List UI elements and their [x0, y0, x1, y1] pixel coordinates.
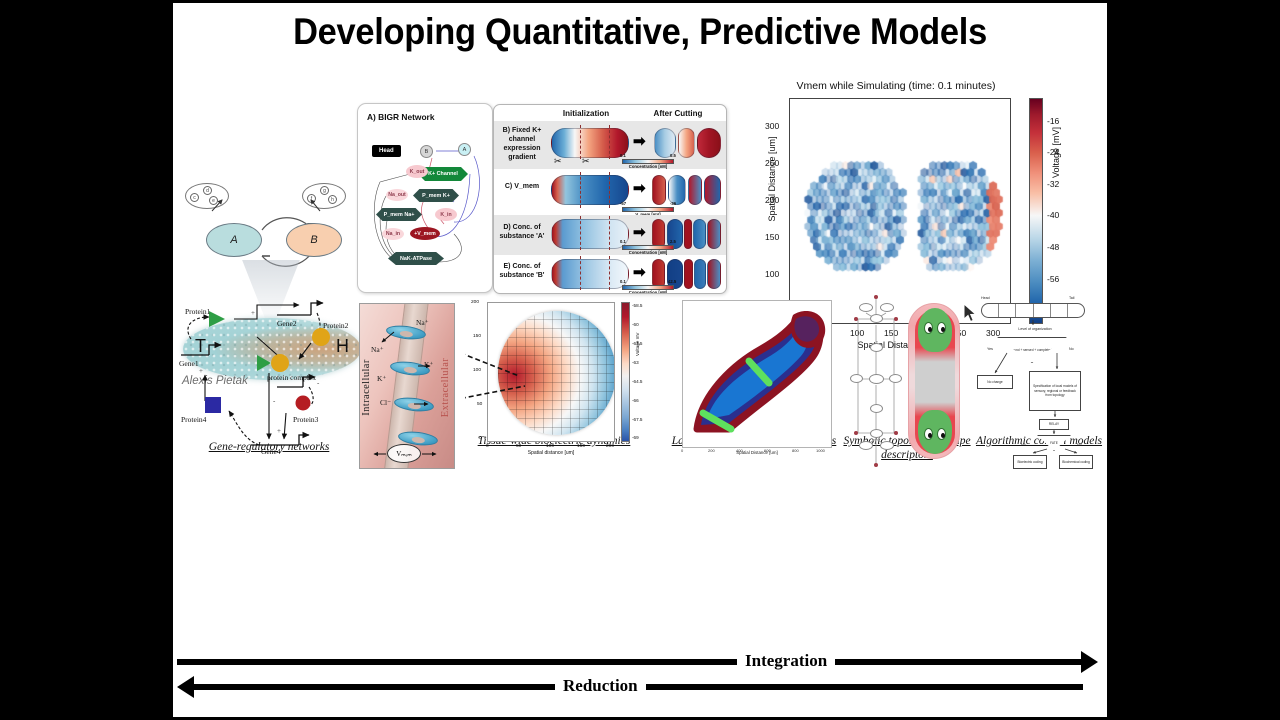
bigr-na-in: Na_in	[382, 228, 404, 240]
algo-decision-2: FATE	[1037, 435, 1071, 451]
worm-cut-d4	[693, 219, 706, 249]
worm-cut-e3	[684, 259, 693, 289]
algo-strip-cell-1	[982, 304, 999, 317]
mouse-cursor	[963, 303, 977, 323]
bigr-k-out: K_out	[406, 165, 428, 178]
algo-output-2: Biochemical coding	[1059, 455, 1093, 469]
colorbar-e-max: 42.5	[668, 279, 676, 284]
tvp-x-150: 150	[577, 444, 585, 449]
algo-worm-strip	[981, 303, 1085, 318]
topo-node-upper-mid	[870, 343, 883, 352]
sim-row-c-label: C) V_mem	[496, 182, 548, 191]
worm-x-axis-label: Spatial Distance [um]	[682, 450, 832, 455]
planaria-eye-top-left	[924, 322, 933, 334]
worm-init-d	[551, 219, 629, 249]
scissors-icon-2: ✂	[582, 157, 590, 166]
cbar-tick-3: -32	[1047, 179, 1059, 189]
transition-arrow-d: ➡	[633, 225, 646, 240]
sim-row-c: C) V_mem ➡ -57 -36 V_mem [mV]	[494, 169, 727, 215]
algo-strip-cell-5	[1051, 304, 1068, 317]
node-b: B	[286, 223, 342, 257]
grn-sign-plus-1: +	[251, 309, 255, 317]
colorbar-c-min: -57	[620, 201, 626, 206]
tvp-cbar-tick-8: -69	[632, 435, 639, 440]
node-a: A	[206, 223, 262, 257]
worm-cut-b3	[697, 128, 721, 158]
tvp-y-50: 50	[477, 402, 482, 407]
tvp-cbar-tick-6: -66	[632, 398, 639, 403]
planaria-eye-top-right	[937, 322, 946, 334]
grn-sign-minus-1: -	[273, 397, 275, 405]
tvp-x-100: 100	[546, 444, 554, 449]
topo-node-top-center	[870, 314, 883, 323]
algo-output-1: Bioelectric coding	[1013, 455, 1047, 469]
cbar-tick-1: -16	[1047, 116, 1059, 126]
algo-strip-cell-2	[999, 304, 1016, 317]
algo-decision-1: Wound + sensed + completed ?	[997, 337, 1067, 363]
voronoi-mesh	[498, 311, 615, 435]
tvp-cbar-tick-4: -63	[632, 360, 639, 365]
grn-sign-minus-2: -	[317, 379, 319, 387]
y-tick-100: 100	[765, 269, 779, 279]
topo-node-lower-mid	[870, 404, 883, 413]
worm-cut-d3	[684, 219, 692, 249]
algo-tail-label: Tail	[1069, 296, 1074, 300]
grn-label-gene2: Gene2	[277, 319, 297, 328]
algo-process-box: Specification of local models of sensory…	[1029, 371, 1081, 411]
tvp-y-150: 150	[473, 334, 481, 339]
tvp-cbar-tick-3: -61.5	[632, 341, 642, 346]
algo-relay-box: RELAY	[1039, 419, 1069, 430]
cbar-tick-2: -24	[1047, 147, 1059, 157]
column-header-after-cutting: After Cutting	[634, 109, 722, 118]
scissors-icon-1: ✂	[554, 157, 562, 166]
colorbar-e-min: 0.1	[620, 279, 626, 284]
tvp-x-0: 0	[486, 444, 489, 449]
cbar-tick-4: -40	[1047, 210, 1059, 220]
reduction-label: Reduction	[555, 676, 646, 696]
integration-reduction-arrows: Integration Reduction	[173, 648, 1107, 708]
grn-label-protein3: Protein3	[293, 415, 318, 424]
integration-arrow-bar	[177, 659, 1087, 665]
planaria-eye-bottom-right	[937, 428, 946, 440]
worm-init-e	[551, 259, 629, 289]
transition-arrow-c: ➡	[633, 181, 646, 196]
algo-head-label: Head	[981, 296, 990, 300]
grn-label-protein-complex: protein complex	[267, 373, 316, 382]
colorbar-c-max: -36	[670, 201, 676, 206]
algo-level-label: Level of organization	[1003, 327, 1067, 331]
worm-cut-e4	[694, 259, 706, 289]
algo-no-label-3: No	[1077, 443, 1082, 447]
worm-init-b	[551, 128, 629, 158]
worm-shape-svg	[683, 301, 832, 448]
algo-strip-cell-6	[1068, 304, 1084, 317]
tvp-y-0: 0	[479, 436, 482, 441]
y-tick-300: 300	[765, 121, 779, 131]
y-tick-150: 150	[765, 232, 779, 242]
tvp-colorbar	[621, 302, 630, 442]
bigr-pmem-na: P_mem Na+	[376, 208, 422, 221]
worm-init-c	[551, 175, 629, 205]
planaria-head-bottom	[918, 410, 952, 454]
worm-cut-c4	[704, 175, 721, 205]
tvp-cbar-tick-1: -58.5	[632, 303, 642, 308]
page-title: Developing Quantitative, Predictive Mode…	[206, 11, 1075, 53]
integration-arrow-head	[1081, 651, 1098, 673]
sim-row-e-label: E) Conc. of substance 'B'	[496, 262, 548, 280]
topo-node-right	[889, 374, 902, 383]
bigr-network-panel: A) BIGR Network	[357, 103, 493, 293]
colorbar-b-max: 0.5	[670, 153, 676, 158]
transition-arrow-e: ➡	[633, 265, 646, 280]
algo-strip-cell-3	[1016, 304, 1033, 317]
tvp-y-100: 100	[473, 368, 481, 373]
tvp-x-axis-label: Spatial distance [um]	[487, 450, 615, 456]
tvp-x-200: 200	[606, 444, 614, 449]
cut-line-8	[609, 256, 610, 290]
grn-label-protein1: Protein1	[185, 307, 210, 316]
algo-no-change-box: No change	[977, 375, 1013, 389]
worm-plot-area	[682, 300, 832, 448]
worm-cut-d5	[707, 219, 721, 249]
worm-cut-b2	[678, 128, 695, 158]
algo-strip-cell-4	[1034, 304, 1051, 317]
cut-line-7	[580, 256, 581, 290]
cut-line-5	[580, 216, 581, 250]
bigr-head-node: Head	[372, 145, 401, 157]
y-axis-label: Spatial Distance [um]	[767, 114, 777, 244]
grn-label-protein2: Protein2	[323, 321, 348, 330]
colorbar-d-max: 2.5	[670, 239, 676, 244]
bigr-vmem: +V_mem	[410, 227, 440, 240]
shape-descriptor-panel	[848, 293, 963, 469]
grn-panel: Protein1 Gene2 Protein2 protein complex …	[181, 293, 356, 465]
algo-no-label-2: No	[1021, 443, 1026, 447]
topo-node-bottom-right	[880, 441, 894, 450]
control-model-panel: Head Tail Level of organization Wound + …	[973, 291, 1095, 471]
cut-line-1	[580, 125, 581, 159]
tvp-cbar-tick-5: -64.5	[632, 379, 642, 384]
topo-node-bottom-center	[870, 429, 883, 438]
bigr-na-out: Na_out	[386, 189, 408, 201]
topo-node-top-right	[880, 303, 894, 312]
cut-line-4	[609, 172, 610, 208]
bigr-k-in: K_in	[435, 208, 457, 221]
cut-line-2	[609, 125, 610, 159]
planaria-eye-bottom-left	[924, 428, 933, 440]
column-header-initialization: Initialization	[546, 109, 626, 118]
slide-stage: Developing Quantitative, Predictive Mode…	[0, 0, 1280, 720]
anatomical-prepattern-panel: 0 200 400 600 800 1000 Spatial Distance …	[678, 298, 838, 470]
sim-row-d: D) Conc. of substance 'A' ➡ 0.1 2.5 Conc…	[494, 215, 727, 255]
cell-membrane-panel: Na⁺ Na⁺ K⁺ K⁺ Cl⁻ Intracellular Extracel…	[359, 303, 455, 469]
bigr-node-b: B	[420, 145, 433, 158]
topo-node-bottom-left	[859, 441, 873, 450]
worm-cut-c1	[652, 175, 666, 205]
tvp-x-50: 50	[516, 444, 521, 449]
tvp-cbar-tick-7: -67.5	[632, 417, 642, 422]
bigr-node-a: A	[458, 143, 471, 156]
tissue-disc	[498, 311, 615, 435]
sim-row-e: E) Conc. of substance 'B' ➡ 0.1 42.5 Con…	[494, 255, 727, 294]
integration-label: Integration	[737, 651, 835, 671]
grn-label-protein4: Protein4	[181, 415, 206, 424]
transition-arrow-b: ➡	[633, 134, 646, 149]
grn-label-gene1: Gene1	[179, 359, 199, 368]
y-tick-200: 200	[765, 195, 779, 205]
colorbar-d-min: 0.1	[620, 239, 626, 244]
bigr-pmem-k: P_mem K+	[413, 189, 459, 202]
topo-node-top-left	[859, 303, 873, 312]
slide-canvas: Developing Quantitative, Predictive Mode…	[173, 3, 1107, 717]
membrane-arrows	[360, 304, 455, 469]
two-headed-planaria	[908, 303, 960, 459]
tvp-y-200: 200	[471, 300, 479, 305]
cbar-tick-6: -56	[1047, 274, 1059, 284]
cut-line-6	[609, 216, 610, 250]
sim-row-b-label: B) Fixed K+ channel expression gradient	[496, 126, 548, 162]
planaria-head-top	[918, 308, 952, 352]
y-tick-250: 250	[765, 158, 779, 168]
cbar-tick-5: -48	[1047, 242, 1059, 252]
algo-no-label-1: No	[1069, 347, 1074, 351]
topo-node-center	[869, 374, 884, 384]
colorbar-b-min: 0.1	[620, 153, 626, 158]
grn-label-gene4: Gene4	[261, 447, 281, 456]
tvp-cbar-tick-2: -60	[632, 322, 639, 327]
topo-node-left	[850, 374, 863, 383]
cut-simulation-panel: Initialization After Cutting B) Fixed K+…	[493, 104, 727, 294]
bigr-nak-atpase: NaK-ATPase	[388, 252, 444, 265]
cut-line-3	[580, 172, 581, 208]
tissue-voltage-panel: 200 150 100 50 0 0 50 100 150 200 Spatia…	[465, 298, 643, 470]
colorbar-label: Voltage [mV]	[1051, 98, 1061, 178]
colorbar-e-label: Concentration [nM]	[622, 290, 674, 294]
chart-title: Vmem while Simulating (time: 0.1 minutes…	[751, 80, 1041, 92]
worm-cut-e5	[707, 259, 721, 289]
algo-yes-label-1: Yes	[987, 347, 993, 351]
sim-row-b: B) Fixed K+ channel expression gradient …	[494, 121, 727, 169]
worm-cut-c3	[688, 175, 702, 205]
reduction-arrow-head	[177, 676, 194, 698]
sim-row-d-label: D) Conc. of substance 'A'	[496, 223, 548, 241]
grn-sign-plus-3: +	[277, 427, 281, 435]
grn-sign-plus-2: +	[199, 367, 203, 375]
tvp-plot-area	[487, 302, 615, 442]
